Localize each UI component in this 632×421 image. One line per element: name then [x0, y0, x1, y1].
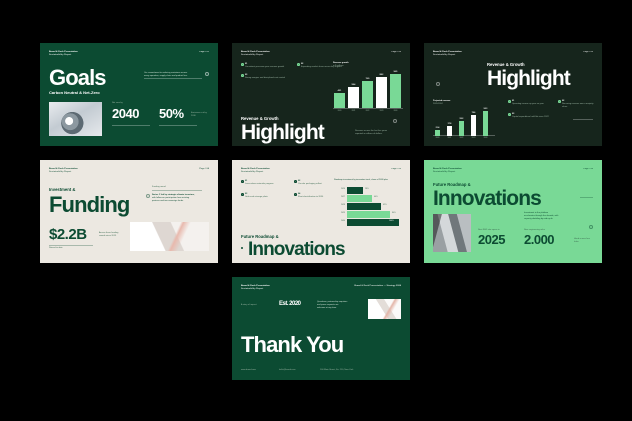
- bar-category-label: 2027: [334, 196, 345, 198]
- bar-value-label: 21.4: [433, 127, 442, 129]
- page-number: Page / 03: [583, 51, 593, 53]
- accent-rule: [573, 119, 593, 120]
- note-underline: [152, 190, 202, 191]
- slide-title: Goals: [49, 65, 106, 91]
- stat-value: 2.000: [524, 232, 554, 247]
- footer-link[interactable]: www.brand.com: [241, 369, 256, 372]
- bar: [347, 211, 390, 218]
- slide-note: Series C led by strategic climate invest…: [152, 194, 202, 204]
- bullet-marker: [297, 63, 300, 66]
- bar: [435, 130, 440, 136]
- bullet-text: Circular packaging rollout: [298, 183, 336, 186]
- bar-tick-label: 2024: [390, 110, 401, 112]
- chart-title: Roadmap investment by innovation track, …: [334, 179, 404, 182]
- bullet-marker: [241, 193, 244, 196]
- stat-value: $2.2B: [49, 226, 87, 243]
- bar-value-label: 58.4: [348, 84, 359, 86]
- bar-value-label: 62%: [383, 204, 387, 206]
- bar-value-label: 44%: [374, 196, 378, 198]
- bar-value-label: 55.2: [457, 118, 466, 120]
- stat-underline: [159, 125, 197, 126]
- note-label: Funding round: [152, 186, 202, 189]
- bar-tick-label: 2020: [433, 137, 442, 139]
- slide-title: Innovations: [248, 239, 345, 261]
- page-number: Page / 01: [199, 51, 209, 53]
- chart-title: Revenue growth in $ millions: [333, 62, 349, 68]
- slide-brand: Brand & Deck Presentation Sustainability…: [241, 51, 270, 57]
- stat-underline: [49, 245, 93, 246]
- bar: [348, 87, 359, 108]
- bullet-marker: [294, 180, 297, 183]
- slide-brand: Brand & Deck Presentation Sustainability…: [241, 285, 270, 291]
- bar-tick-label: 2022: [457, 137, 466, 139]
- est-badge: Est. 2020: [279, 301, 301, 307]
- slide-title: Highlight: [241, 121, 324, 145]
- stat-value: 2040: [112, 106, 139, 121]
- slide-photo: [49, 102, 102, 136]
- bullet-text: Grid-scale storage pilots: [245, 196, 283, 199]
- accent-rule: [580, 197, 593, 198]
- slide-innovations-b[interactable]: Brand & Deck Presentation Sustainability…: [424, 160, 602, 263]
- bar: [483, 111, 488, 136]
- bar: [459, 121, 464, 136]
- corner-ring-icon: [589, 225, 593, 229]
- bar-value-label: 42.1: [334, 90, 345, 92]
- roadmap-investment-chart: 2026 28% 2027 44% 2028 62% 2029 80% 2030…: [334, 186, 404, 228]
- bar-tick-label: 2021: [445, 137, 454, 139]
- bullet-marker: [294, 193, 297, 196]
- bar-value-label: 96.5: [390, 71, 401, 73]
- bar-tick-label: 2022: [362, 110, 373, 112]
- slide-brand: Brand & Deck Presentation Sustainability…: [241, 168, 270, 174]
- slide-title: Innovations: [433, 187, 541, 211]
- corner-ring-icon: [146, 194, 150, 198]
- badge-caption: A story of impact: [241, 304, 257, 307]
- stat-underline: [112, 125, 150, 126]
- bar-tick-label: 2023: [469, 137, 478, 139]
- stat-sub: Across three funding rounds since 2019: [99, 232, 119, 238]
- chart-title: Projected revenue 2020-2024: [433, 100, 450, 106]
- page-number: Page / 05: [391, 168, 401, 170]
- slide-goals[interactable]: Brand & Deck Presentation Sustainability…: [40, 43, 218, 146]
- slide-photo: [433, 214, 471, 252]
- stat-value: 50%: [159, 106, 184, 121]
- slide-brand: Brand & Deck Presentation Sustainability…: [433, 51, 462, 57]
- slide-title: Funding: [49, 192, 129, 218]
- slide-title: Highlight: [487, 67, 570, 91]
- bullet-marker: [558, 100, 561, 103]
- note-underline: [144, 78, 202, 79]
- bar-category-label: 2028: [334, 204, 345, 206]
- bar-tick-label: 2023: [376, 110, 387, 112]
- slide-deck-board: Brand & Deck Presentation Sustainability…: [0, 0, 632, 421]
- stat-sub: Hired across four hubs: [574, 238, 594, 244]
- stat-sub: Emissions cut by 2030: [191, 112, 207, 118]
- bullet-marker: [241, 180, 244, 183]
- bar: [376, 77, 387, 108]
- bar-tick-label: 2024: [481, 137, 490, 139]
- footer-link[interactable]: hello@brand.com: [279, 369, 295, 372]
- bar: [334, 93, 345, 108]
- bullet-text: Capital expenditure held flat since 2022: [512, 116, 566, 119]
- bar-value-label: 76.9: [362, 78, 373, 80]
- bullet-text: Fleet electrification to 2030: [298, 196, 336, 199]
- bar-value-label: 100%: [389, 220, 394, 222]
- bar-category-label: 2026: [334, 188, 345, 190]
- bullet-text: Low-carbon materials program: [245, 183, 283, 186]
- footer-address: 100 Main Street, Su. 210, New York: [320, 369, 353, 372]
- bullet-text: Strong margins and disciplined cost cont…: [245, 77, 307, 80]
- slide-title: Thank You: [241, 332, 343, 358]
- bar-value-label: 80%: [392, 212, 396, 214]
- bar-value-label: 92.3: [481, 108, 490, 110]
- bullet-text: Operating income up year on year: [512, 103, 550, 106]
- corner-ring-icon: [436, 82, 440, 86]
- slide-brand: Brand & Deck Presentation Sustainability…: [433, 168, 462, 174]
- bullet-marker: [508, 100, 511, 103]
- bullet-marker: [241, 63, 244, 66]
- corner-ring-icon: [393, 119, 397, 123]
- bullet-text: Consistent year-over-year revenue growth: [245, 66, 287, 69]
- slide-thank-you[interactable]: Brand & Deck Presentation Sustainability…: [232, 277, 410, 380]
- bar: [347, 195, 372, 202]
- stat-caption: Raised to date: [49, 247, 95, 250]
- bar-tick-label: 2021: [348, 110, 359, 112]
- slide-highlight-b[interactable]: Brand & Deck Presentation Sustainability…: [424, 43, 602, 146]
- bar-value-label: 88.2: [376, 74, 387, 76]
- bar: [347, 203, 381, 210]
- bullet-text: Recurring revenue now a majority share: [562, 103, 596, 109]
- bullet-marker: [508, 113, 511, 116]
- page-number: Page / 02: [391, 51, 401, 53]
- bar: [447, 126, 452, 136]
- corner-ring-icon: [205, 72, 209, 76]
- bar-category-label: 2030: [334, 220, 345, 222]
- bar-value-label: 78.6: [469, 112, 478, 114]
- stat-value: 2025: [478, 232, 505, 247]
- bar: [347, 187, 363, 194]
- slide-subtitle: Carbon Neutral & Net-Zero: [49, 90, 100, 95]
- stat-caption: Net zero by: [112, 102, 123, 105]
- slide-note: Investment in the platform accelerates t…: [524, 212, 578, 222]
- bar-value-label: 28%: [365, 188, 369, 190]
- slide-highlight-a[interactable]: Brand & Deck Presentation Sustainability…: [232, 43, 410, 146]
- slide-brand: Brand & Deck Presentation Sustainability…: [49, 51, 78, 57]
- bar-value-label: 37.8: [445, 123, 454, 125]
- page-number: Page / 04: [199, 168, 209, 170]
- bar: [471, 115, 476, 136]
- slide-note: Questions, partnership enquiries and pre…: [317, 301, 353, 311]
- slide-brand: Brand & Deck Presentation Sustainability…: [49, 168, 78, 174]
- slide-footnote: Revenue across the last five years repor…: [355, 130, 401, 136]
- projected-revenue-chart: 21.4 2020 37.8 2021 55.2 2022 78.6 2023 …: [433, 107, 495, 139]
- page-number: Brand & Deck Presentation — Strategy 202…: [354, 285, 401, 287]
- bar-category-label: 2029: [334, 212, 345, 214]
- slide-funding[interactable]: Brand & Deck Presentation Sustainability…: [40, 160, 218, 263]
- revenue-bar-chart: 42.1 2020 58.4 2021 76.9 2022 88.2 2023 …: [333, 70, 403, 112]
- accent-dot: [241, 247, 243, 249]
- bar: [390, 74, 401, 108]
- slide-photo: [130, 222, 209, 251]
- page-number: Page / 06: [583, 168, 593, 170]
- bullet-marker: [241, 74, 244, 77]
- slide-photo: [368, 299, 401, 319]
- bar-tick-label: 2020: [334, 110, 345, 112]
- slide-innovations-a[interactable]: Brand & Deck Presentation Sustainability…: [232, 160, 410, 263]
- bar: [362, 81, 373, 108]
